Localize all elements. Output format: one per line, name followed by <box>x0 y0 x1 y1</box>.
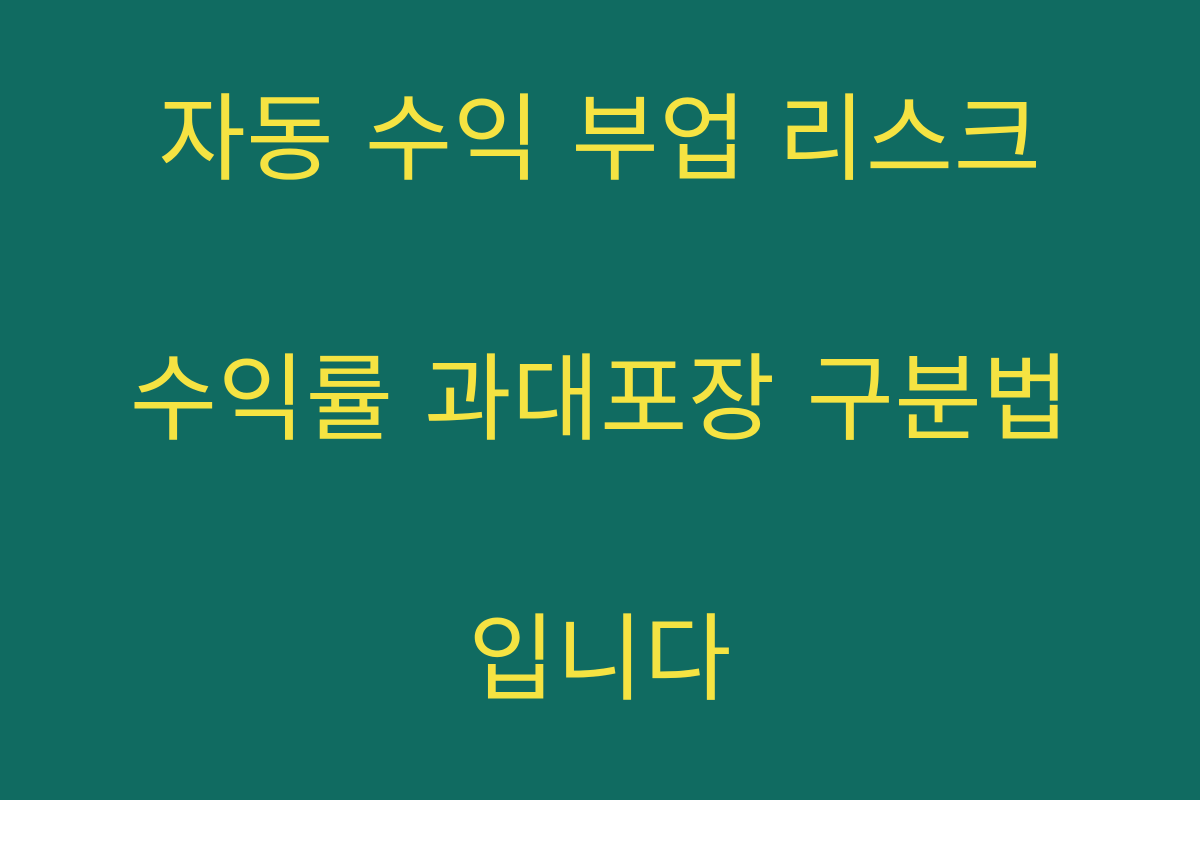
headline-line-3: 입니다 <box>40 595 1160 725</box>
headline-line-1: 자동 수익 부업 리스크 <box>40 75 1160 205</box>
headline-line-2: 수익률 과대포장 구분법 <box>40 335 1160 465</box>
headline-text: 자동 수익 부업 리스크 수익률 과대포장 구분법 입니다 <box>0 0 1200 855</box>
banner-canvas: 자동 수익 부업 리스크 수익률 과대포장 구분법 입니다 <box>0 0 1200 800</box>
